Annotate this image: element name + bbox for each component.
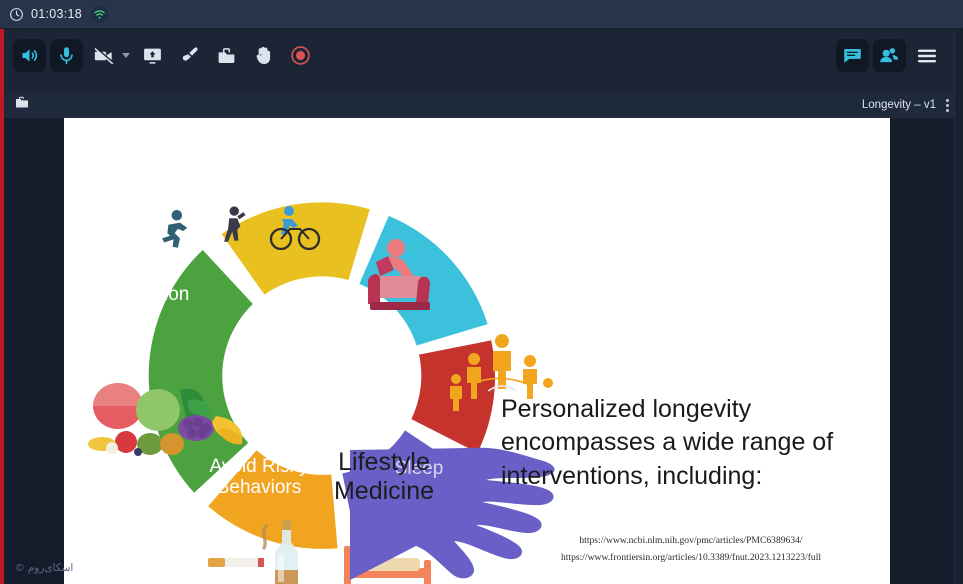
participants-button[interactable] xyxy=(873,39,906,72)
watermark: اسکای‌روم © xyxy=(16,562,73,574)
document-header: Longevity – v1 xyxy=(4,92,963,118)
document-title: Longevity – v1 xyxy=(862,99,936,111)
camera-button[interactable] xyxy=(87,39,120,72)
slide-body-text: Personalized longevity encompasses a wid… xyxy=(501,393,871,493)
presentation-stage: z Z Z Exercise Stress Management Social … xyxy=(4,118,963,584)
files-button[interactable] xyxy=(210,39,243,72)
watermark-text: اسکای‌روم xyxy=(28,562,74,574)
wifi-signal-icon xyxy=(91,6,108,23)
status-bar: 01:03:18 xyxy=(0,0,963,29)
citation-1[interactable]: https://www.ncbi.nlm.nih.gov/pmc/article… xyxy=(501,533,881,550)
session-timer: 01:03:18 xyxy=(31,7,82,21)
whiteboard-button[interactable] xyxy=(173,39,206,72)
share-screen-button[interactable] xyxy=(136,39,169,72)
citation-list: https://www.ncbi.nlm.nih.gov/pmc/article… xyxy=(501,533,881,567)
clock-icon xyxy=(9,7,24,22)
record-button[interactable] xyxy=(284,39,317,72)
toolbar-left-group xyxy=(13,39,317,72)
folder-icon[interactable] xyxy=(14,95,30,115)
meeting-window: 01:03:18 xyxy=(0,0,963,584)
speaker-button[interactable] xyxy=(13,39,46,72)
raise-hand-button[interactable] xyxy=(247,39,280,72)
chevron-down-icon[interactable] xyxy=(122,53,130,58)
menu-button[interactable] xyxy=(910,39,943,72)
document-header-right: Longevity – v1 xyxy=(862,96,963,115)
citation-2[interactable]: https://www.frontiersin.org/articles/10.… xyxy=(501,550,881,567)
kebab-menu-icon[interactable] xyxy=(942,96,953,115)
copyright-icon: © xyxy=(16,562,24,574)
chat-button[interactable] xyxy=(836,39,869,72)
wheel-center-label: Lifestyle Medicine xyxy=(269,448,499,506)
slide-canvas[interactable]: z Z Z Exercise Stress Management Social … xyxy=(64,118,890,584)
microphone-button[interactable] xyxy=(50,39,83,72)
right-panel-rail[interactable] xyxy=(954,30,963,584)
toolbar-right-group xyxy=(836,39,943,72)
meeting-toolbar xyxy=(4,30,963,92)
